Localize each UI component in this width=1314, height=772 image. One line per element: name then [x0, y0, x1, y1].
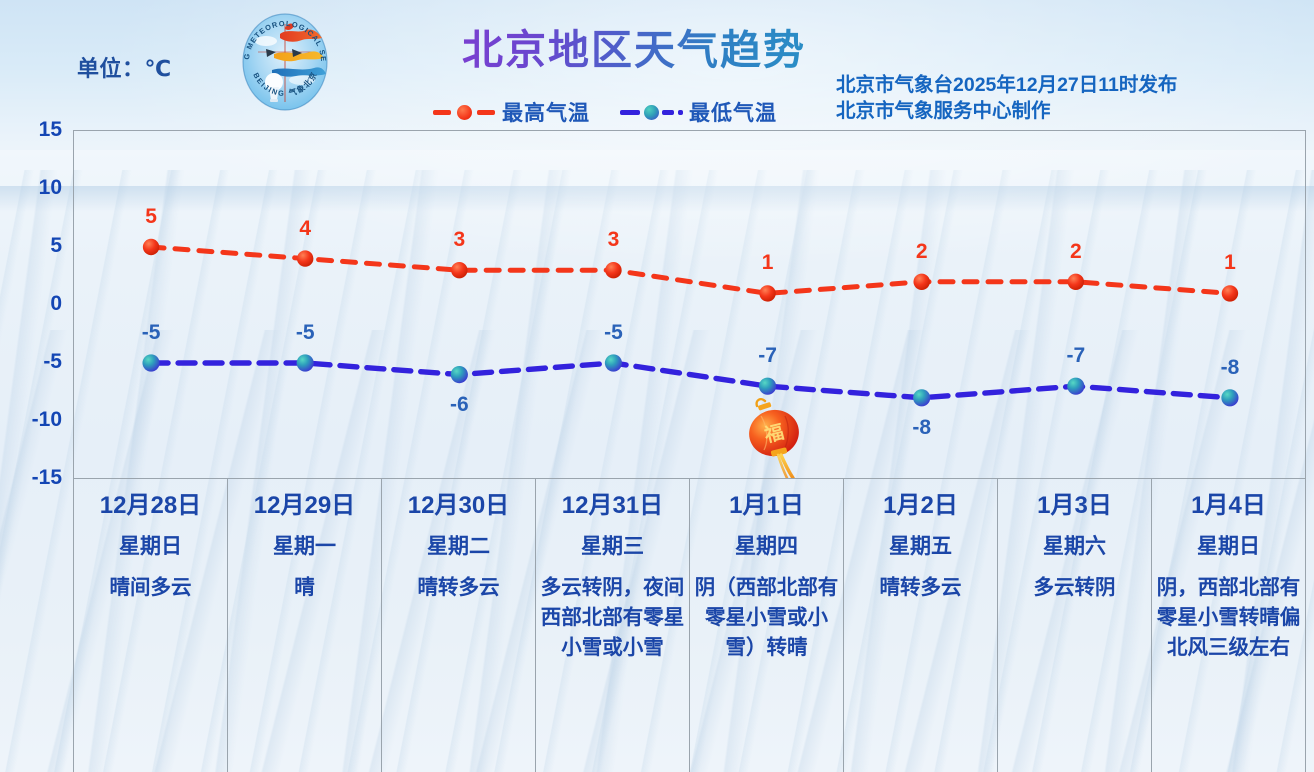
publisher-line-1: 北京市气象台2025年12月27日11时发布 — [836, 72, 1177, 98]
legend-item-low: 最低气温 — [620, 97, 777, 127]
unit-label: 单位：℃ — [77, 51, 172, 83]
data-point-marker — [913, 274, 929, 290]
page-title: 北京地区天气趋势 — [462, 16, 806, 76]
data-label-high: 2 — [1070, 240, 1082, 264]
data-label-high: 1 — [762, 251, 774, 275]
data-label-high: 4 — [299, 217, 311, 241]
data-point-marker — [451, 262, 467, 278]
forecast-date: 12月28日 — [100, 491, 201, 521]
chart-legend: 最高气温 最低气温 — [433, 97, 777, 127]
forecast-date: 1月4日 — [1191, 491, 1266, 521]
data-label-high: 5 — [145, 205, 157, 229]
y-axis-tick: 5 — [50, 234, 62, 258]
data-label-low: -5 — [296, 321, 315, 345]
y-axis-tick: -10 — [32, 408, 62, 432]
forecast-weather-description: 晴间多云 — [106, 573, 196, 603]
forecast-date: 1月3日 — [1037, 491, 1112, 521]
legend-marker-high-icon — [433, 104, 495, 120]
forecast-date: 1月1日 — [729, 491, 804, 521]
data-label-high: 3 — [608, 228, 620, 252]
forecast-date: 12月31日 — [562, 491, 663, 521]
publisher-info: 北京市气象台2025年12月27日11时发布 北京市气象服务中心制作 — [836, 72, 1177, 124]
y-axis: 151050-5-10-15 — [0, 0, 73, 772]
forecast-weekday: 星期日 — [1197, 533, 1260, 561]
forecast-weekday: 星期日 — [119, 533, 182, 561]
forecast-weekday: 星期三 — [581, 533, 644, 561]
chart-series-canvas — [74, 131, 1307, 479]
data-point-marker — [1068, 274, 1084, 290]
data-point-marker — [143, 239, 159, 255]
forecast-date: 12月29日 — [254, 491, 355, 521]
data-label-low: -6 — [450, 393, 469, 417]
beijing-meteorological-service-logo: BEIJING METEOROLOGICAL SERVICE BEIJING 气… — [236, 8, 334, 116]
data-label-low: -8 — [912, 416, 931, 440]
y-axis-tick: 10 — [39, 176, 62, 200]
data-label-low: -5 — [142, 321, 161, 345]
data-label-high: 1 — [1224, 251, 1236, 275]
forecast-weekday: 星期一 — [273, 533, 336, 561]
y-axis-tick: -15 — [32, 466, 62, 490]
forecast-weather-description: 晴转多云 — [414, 573, 504, 603]
forecast-column[interactable]: 1月3日星期六多云转阴 — [998, 479, 1152, 772]
forecast-column[interactable]: 12月31日星期三多云转阴，夜间西部北部有零星小雪或小雪 — [536, 479, 690, 772]
data-label-high: 2 — [916, 240, 928, 264]
weather-trend-infographic: 单位：℃ — [0, 0, 1314, 772]
series-line-high — [151, 247, 1230, 293]
data-point-marker — [759, 285, 775, 301]
forecast-weekday: 星期五 — [889, 533, 952, 561]
legend-label-low: 最低气温 — [689, 97, 777, 127]
data-point-marker — [605, 354, 622, 371]
chinese-lantern-decoration: 福 — [739, 392, 811, 478]
forecast-column[interactable]: 12月29日星期一晴 — [228, 479, 382, 772]
legend-label-high: 最高气温 — [502, 97, 590, 127]
forecast-column[interactable]: 1月1日星期四阴（西部北部有零星小雪或小雪）转晴 — [690, 479, 844, 772]
data-label-low: -7 — [1066, 344, 1085, 368]
forecast-weekday: 星期六 — [1043, 533, 1106, 561]
forecast-table: 12月28日星期日晴间多云12月29日星期一晴12月30日星期二晴转多云12月3… — [73, 478, 1306, 772]
forecast-weather-description: 多云转阴 — [1030, 573, 1120, 603]
y-axis-tick: 0 — [50, 292, 62, 316]
forecast-column[interactable]: 1月4日星期日阴，西部北部有零星小雪转晴偏北风三级左右 — [1152, 479, 1306, 772]
forecast-date: 1月2日 — [883, 491, 958, 521]
forecast-column[interactable]: 1月2日星期五晴转多云 — [844, 479, 998, 772]
data-label-low: -5 — [604, 321, 623, 345]
forecast-weather-description: 阴（西部北部有零星小雪或小雪）转晴 — [690, 573, 843, 663]
data-point-marker — [913, 389, 930, 406]
forecast-date: 12月30日 — [408, 491, 509, 521]
forecast-weather-description: 阴，西部北部有零星小雪转晴偏北风三级左右 — [1152, 573, 1305, 663]
publisher-line-2: 北京市气象服务中心制作 — [836, 98, 1177, 124]
forecast-column[interactable]: 12月28日星期日晴间多云 — [74, 479, 228, 772]
data-point-marker — [297, 354, 314, 371]
data-point-marker — [1222, 285, 1238, 301]
data-point-marker — [451, 366, 468, 383]
forecast-weather-description: 多云转阴，夜间西部北部有零星小雪或小雪 — [536, 573, 689, 663]
data-label-low: -8 — [1221, 356, 1240, 380]
forecast-weather-description: 晴转多云 — [876, 573, 966, 603]
y-axis-tick: -5 — [43, 350, 62, 374]
series-line-low — [151, 363, 1230, 398]
chart-plot-area: 54331221-5-5-6-5-7-8-7-8 — [73, 130, 1306, 478]
data-label-low: -7 — [758, 344, 777, 368]
y-axis-tick: 15 — [39, 118, 62, 142]
data-label-high: 3 — [453, 228, 465, 252]
forecast-weather-description: 晴 — [290, 573, 319, 603]
data-point-marker — [1067, 378, 1084, 395]
legend-item-high: 最高气温 — [433, 97, 590, 127]
data-point-marker — [142, 354, 159, 371]
forecast-weekday: 星期四 — [735, 533, 798, 561]
legend-marker-low-icon — [620, 104, 682, 120]
data-point-marker — [297, 250, 313, 266]
forecast-weekday: 星期二 — [427, 533, 490, 561]
data-point-marker — [1221, 389, 1238, 406]
forecast-column[interactable]: 12月30日星期二晴转多云 — [382, 479, 536, 772]
data-point-marker — [605, 262, 621, 278]
